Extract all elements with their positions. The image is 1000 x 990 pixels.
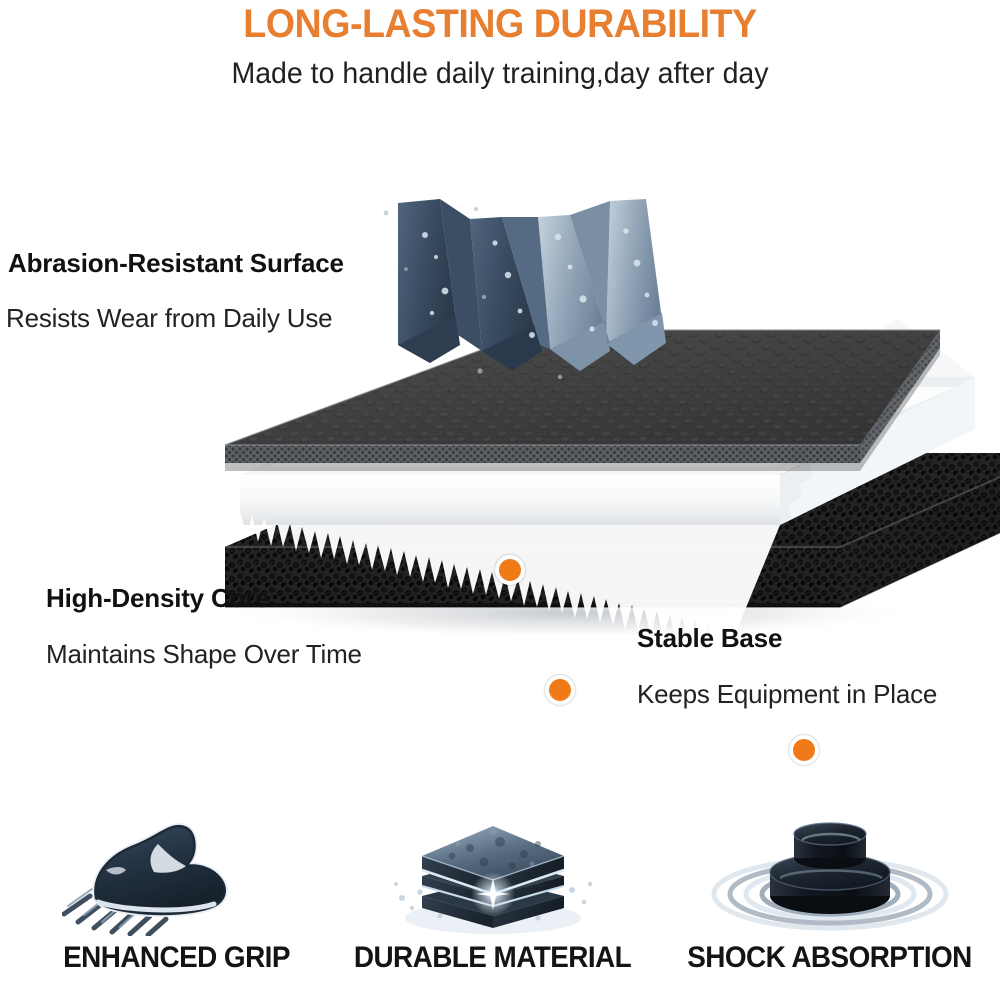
feature-label-shock-absorption: SHOCK ABSORPTION: [675, 941, 985, 975]
feature-enhanced-grip: ENHANCED GRIP: [10, 808, 343, 990]
marker-dot-surface: [495, 555, 525, 585]
marker-dot-base: [789, 735, 819, 765]
infographic-stage: LONG-LASTING DURABILITY Made to handle d…: [0, 0, 1000, 990]
sneaker-icon: [10, 808, 343, 938]
page-title: LONG-LASTING DURABILITY: [30, 2, 970, 47]
callout-title-high-density-core: High-Density Core: [46, 583, 269, 614]
callout-subtitle-high-density-core: Maintains Shape Over Time: [46, 639, 362, 670]
page-subtitle: Made to handle daily training,day after …: [25, 57, 975, 91]
callout-subtitle-stable-base: Keeps Equipment in Place: [637, 679, 937, 710]
marker-dot-core: [545, 675, 575, 705]
feature-shock-absorption: SHOCK ABSORPTION: [663, 808, 996, 990]
stacked-puck-ripple-icon: [663, 808, 996, 938]
feature-label-enhanced-grip: ENHANCED GRIP: [22, 941, 332, 975]
callout-title-abrasion-resistant-surface: Abrasion-Resistant Surface: [8, 248, 344, 279]
callout-title-stable-base: Stable Base: [637, 623, 782, 654]
callout-subtitle-abrasion-resistant-surface: Resists Wear from Daily Use: [6, 303, 332, 334]
feature-durable-material: DURABLE MATERIAL: [326, 808, 659, 990]
layered-cube-icon: [326, 808, 659, 938]
feature-label-durable-material: DURABLE MATERIAL: [338, 941, 648, 975]
feature-row: ENHANCED GRIP: [0, 808, 1000, 990]
abrasion-chevron-graphic: [384, 199, 666, 379]
